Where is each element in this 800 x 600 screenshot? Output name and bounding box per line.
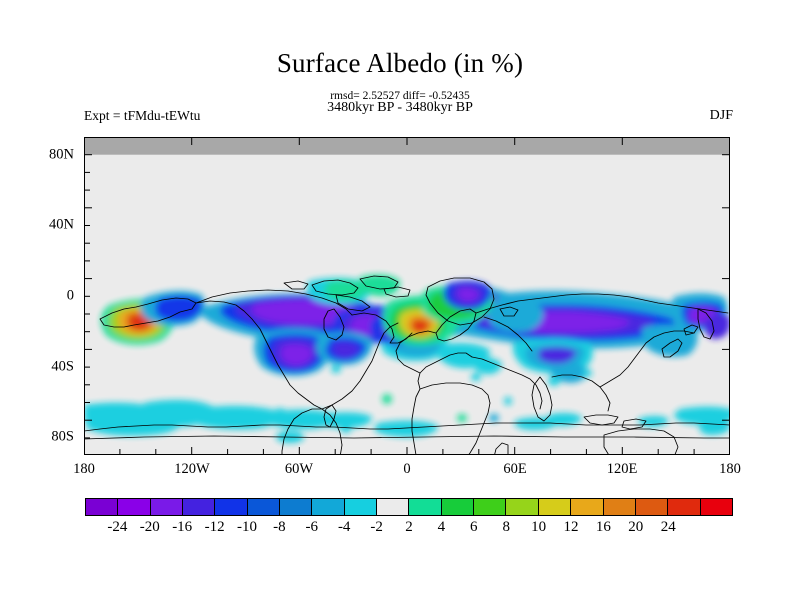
colorbar-cell-9 (377, 499, 409, 515)
x-tick-label: 60W (285, 461, 313, 478)
y-tick-label: 80N (32, 147, 74, 164)
colorbar-cell-10 (409, 499, 441, 515)
colorbar-cell-6 (280, 499, 312, 515)
colorbar-tick-label: -10 (237, 519, 257, 536)
page-title: Surface Albedo (in %) (0, 48, 800, 79)
colorbar-cell-2 (151, 499, 183, 515)
world-map-heatmap (84, 137, 730, 455)
colorbar-cell-8 (345, 499, 377, 515)
colorbar-cell-16 (604, 499, 636, 515)
map-plot-area (84, 137, 730, 455)
colorbar-cell-14 (539, 499, 571, 515)
y-tick-label: 0 (32, 288, 74, 305)
colorbar-tick-label: 24 (661, 519, 676, 536)
colorbar-tick-label: 8 (502, 519, 510, 536)
colorbar-tick-label: -4 (338, 519, 351, 536)
colorbar-tick-label: 10 (531, 519, 546, 536)
colorbar-tick-label: 16 (596, 519, 611, 536)
x-tick-label: 180 (719, 461, 741, 478)
colorbar-cell-7 (312, 499, 344, 515)
colorbar-cell-1 (118, 499, 150, 515)
y-tick-label: 40N (32, 217, 74, 234)
colorbar-tick-label: 20 (628, 519, 643, 536)
colorbar-tick-label: 6 (470, 519, 478, 536)
x-tick-label: 180 (73, 461, 95, 478)
colorbar-cell-4 (215, 499, 247, 515)
colorbar-tick-label: -12 (205, 519, 225, 536)
colorbar-cell-13 (506, 499, 538, 515)
colorbar-cell-5 (248, 499, 280, 515)
experiment-label: Expt = tFMdu-tEWtu (84, 108, 200, 124)
colorbar-tick-label: -24 (107, 519, 127, 536)
colorbar-tick-label: 4 (438, 519, 446, 536)
colorbar-tick-label: -20 (140, 519, 160, 536)
y-tick-label: 80S (32, 429, 74, 446)
colorbar-tick-label: -6 (306, 519, 319, 536)
x-tick-label: 120W (174, 461, 209, 478)
colorbar-cell-3 (183, 499, 215, 515)
colorbar-cell-0 (86, 499, 118, 515)
x-tick-label: 0 (403, 461, 410, 478)
colorbar-cell-19 (701, 499, 732, 515)
x-tick-label: 60E (503, 461, 526, 478)
colorbar-tick-label: -8 (273, 519, 286, 536)
colorbar-cell-11 (442, 499, 474, 515)
colorbar (85, 498, 733, 516)
colorbar-cell-12 (474, 499, 506, 515)
x-tick-label: 120E (607, 461, 638, 478)
colorbar-cell-15 (571, 499, 603, 515)
season-label: DJF (710, 108, 733, 124)
colorbar-tick-label: 12 (564, 519, 579, 536)
colorbar-tick-label: -2 (370, 519, 383, 536)
colorbar-cells (85, 498, 733, 516)
colorbar-cell-18 (668, 499, 700, 515)
y-tick-label: 40S (32, 359, 74, 376)
colorbar-tick-label: 2 (405, 519, 413, 536)
colorbar-cell-17 (636, 499, 668, 515)
colorbar-tick-label: -16 (172, 519, 192, 536)
